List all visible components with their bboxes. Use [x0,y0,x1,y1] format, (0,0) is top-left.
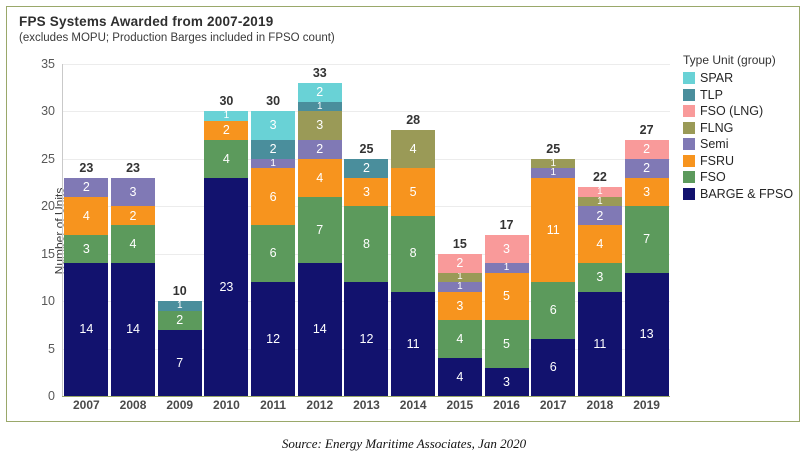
bar-segment[interactable]: 14 [64,263,108,396]
bar-segment[interactable]: 3 [344,178,388,206]
bar-segment[interactable]: 1 [438,273,482,282]
x-axis-tick-label: 2008 [110,398,157,418]
bar-total-label: 25 [360,142,374,156]
x-axis-tick-label: 2015 [437,398,484,418]
bar-segment[interactable]: 14 [298,263,342,396]
bar-segment[interactable]: 3 [64,235,108,263]
source-note: Source: Energy Maritime Associates, Jan … [0,436,808,452]
legend-item[interactable]: Semi [683,136,805,153]
bar-segment[interactable]: 3 [625,178,669,206]
bar-group[interactable]: 66111125 [530,64,577,396]
bar-stack[interactable]: 35513 [485,235,529,396]
bar-total-label: 27 [640,123,654,137]
bar-segment[interactable]: 6 [531,339,575,396]
bar-segment[interactable]: 12 [251,282,295,396]
bar-segment[interactable]: 7 [625,206,669,272]
x-axis-tick-label: 2010 [203,398,250,418]
bar-total-label: 30 [219,94,233,108]
bar-stack[interactable]: 721 [158,301,202,396]
bar-segment[interactable]: 4 [578,225,622,263]
bar-segment[interactable]: 4 [204,140,248,178]
bar-segment[interactable]: 2 [111,206,155,225]
bar-segment[interactable]: 4 [64,197,108,235]
bar-segment[interactable]: 4 [391,130,435,168]
bar-segment[interactable]: 1 [438,282,482,291]
bar-segment[interactable]: 1 [204,111,248,120]
legend-item[interactable]: FSRU [683,153,805,170]
x-axis-tick-label: 2009 [156,398,203,418]
legend-label: Semi [700,137,728,151]
bar-segment[interactable]: 23 [204,178,248,396]
bar-segment[interactable]: 6 [531,282,575,339]
legend-label: FSO [700,170,726,184]
bar-segment[interactable]: 11 [391,292,435,396]
bar-segment[interactable]: 11 [578,292,622,396]
bar-segment[interactable]: 2 [298,140,342,159]
bar-total-label: 33 [313,66,327,80]
y-axis-tick-label: 30 [41,104,55,118]
bar-stack[interactable]: 1266123 [251,111,295,396]
legend-swatch [683,171,695,183]
bar-segment[interactable]: 7 [298,197,342,263]
bar-stack[interactable]: 137322 [625,140,669,396]
bar-stack[interactable]: 14342 [64,178,108,396]
x-axis-tick-label: 2019 [623,398,670,418]
plot-area: Number of Units 05101520253035 143422314… [62,64,670,397]
bar-segment[interactable]: 3 [485,235,529,263]
legend-item[interactable]: BARGE & FPSO [683,186,805,203]
legend-item[interactable]: TLP [683,87,805,104]
bar-segment[interactable]: 4 [438,320,482,358]
y-axis-tick-label: 20 [41,199,55,213]
bar-segment[interactable]: 2 [625,159,669,178]
bar-group[interactable]: 72110 [156,64,203,396]
y-axis-tick-label: 5 [48,342,55,356]
bar-segment[interactable]: 11 [531,178,575,282]
legend-swatch [683,89,695,101]
bar-series-container: 1434223144232372110234213012661233014742… [63,64,670,396]
bar-segment[interactable]: 2 [344,159,388,178]
bar-segment[interactable]: 1 [531,168,575,177]
bar-segment[interactable]: 1 [578,197,622,206]
y-axis-tick-label: 15 [41,247,55,261]
legend-item[interactable]: FSO (LNG) [683,103,805,120]
legend-item[interactable]: SPAR [683,70,805,87]
bar-segment[interactable]: 3 [111,178,155,206]
bar-segment[interactable]: 5 [485,273,529,320]
y-axis-tick-label: 0 [48,389,55,403]
bar-segment[interactable]: 3 [578,263,622,291]
bar-segment[interactable]: 7 [158,330,202,396]
bar-group[interactable]: 113421122 [577,64,624,396]
legend-label: BARGE & FPSO [700,187,793,201]
bar-segment[interactable]: 2 [578,206,622,225]
x-axis-tick-label: 2013 [343,398,390,418]
chart-page: FPS Systems Awarded from 2007-2019 (excl… [0,0,808,465]
bar-stack[interactable]: 661111 [531,159,575,396]
legend-label: SPAR [700,71,733,85]
x-axis-tick-label: 2012 [296,398,343,418]
bar-total-label: 23 [79,161,93,175]
bar-segment[interactable]: 2 [204,121,248,140]
bar-stack[interactable]: 443112 [438,254,482,396]
y-axis-tick-label: 35 [41,57,55,71]
bar-segment[interactable]: 1 [158,301,202,310]
bar-segment[interactable]: 8 [391,216,435,292]
bar-segment[interactable]: 1 [531,159,575,168]
bar-stack[interactable]: 11854 [391,130,435,396]
x-axis-tick-label: 2007 [63,398,110,418]
bar-segment[interactable]: 5 [391,168,435,215]
bar-segment[interactable]: 2 [298,83,342,102]
bar-total-label: 22 [593,170,607,184]
legend-items: SPARTLPFSO (LNG)FLNGSemiFSRUFSOBARGE & F… [683,70,805,202]
bar-group[interactable]: 44311215 [437,64,484,396]
legend-item[interactable]: FLNG [683,120,805,137]
bar-stack[interactable]: 23421 [204,111,248,396]
bar-segment[interactable]: 3 [438,292,482,320]
bar-segment[interactable]: 2 [438,254,482,273]
legend-label: TLP [700,88,723,102]
bar-total-label: 28 [406,113,420,127]
bar-segment[interactable]: 3 [251,111,295,139]
bar-segment[interactable]: 1 [298,102,342,111]
bar-segment[interactable]: 1 [485,263,529,272]
bar-total-label: 30 [266,94,280,108]
legend-swatch [683,122,695,134]
bar-segment[interactable]: 2 [625,140,669,159]
bar-total-label: 23 [126,161,140,175]
legend-swatch [683,188,695,200]
x-axis-tick-label: 2017 [530,398,577,418]
legend-swatch [683,105,695,117]
legend-label: FSO (LNG) [700,104,763,118]
bar-segment[interactable]: 2 [251,140,295,159]
bar-group[interactable]: 1474231233 [296,64,343,396]
bar-segment[interactable]: 3 [485,368,529,396]
bar-group[interactable]: 13732227 [623,64,670,396]
bar-total-label: 15 [453,237,467,251]
legend-label: FLNG [700,121,733,135]
bar-group[interactable]: 2342130 [203,64,250,396]
bar-stack[interactable]: 12832 [344,159,388,396]
legend-swatch [683,72,695,84]
bar-segment[interactable]: 13 [625,273,669,396]
legend-label: FSRU [700,154,734,168]
bar-segment[interactable]: 6 [251,225,295,282]
bar-group[interactable]: 126612330 [250,64,297,396]
chart-title: FPS Systems Awarded from 2007-2019 [19,14,273,29]
bar-total-label: 10 [173,284,187,298]
bar-segment[interactable]: 8 [344,206,388,282]
bar-group[interactable]: 1185428 [390,64,437,396]
bar-stack[interactable]: 14423 [111,178,155,396]
legend: Type Unit (group) SPARTLPFSO (LNG)FLNGSe… [683,53,805,202]
bar-stack[interactable]: 1134211 [578,187,622,396]
x-axis-tick-label: 2014 [390,398,437,418]
x-axis-tick-label: 2018 [577,398,624,418]
bar-segment[interactable]: 14 [111,263,155,396]
bar-group[interactable]: 1442323 [110,64,157,396]
chart-frame: FPS Systems Awarded from 2007-2019 (excl… [6,6,800,422]
x-axis-tick-label: 2016 [483,398,530,418]
y-axis-tick-label: 25 [41,152,55,166]
bar-stack[interactable]: 14742312 [298,83,342,396]
bar-segment[interactable]: 12 [344,282,388,396]
bar-segment[interactable]: 2 [158,311,202,330]
bar-segment[interactable]: 2 [64,178,108,197]
legend-swatch [683,138,695,150]
bar-segment[interactable]: 4 [111,225,155,263]
bar-group[interactable]: 1283225 [343,64,390,396]
legend-swatch [683,155,695,167]
bar-segment[interactable]: 4 [298,159,342,197]
bar-group[interactable]: 1434223 [63,64,110,396]
bar-total-label: 25 [546,142,560,156]
bar-group[interactable]: 3551317 [483,64,530,396]
x-axis-tick-label: 2011 [250,398,297,418]
y-axis-tick-label: 10 [41,294,55,308]
bar-segment[interactable]: 1 [578,187,622,196]
chart-subtitle: (excludes MOPU; Production Barges includ… [19,32,335,44]
bar-segment[interactable]: 1 [251,159,295,168]
bar-segment[interactable]: 5 [485,320,529,367]
legend-title: Type Unit (group) [683,53,805,67]
bar-segment[interactable]: 6 [251,168,295,225]
x-axis-ticks: 2007200820092010201120122013201420152016… [63,398,670,418]
bar-total-label: 17 [500,218,514,232]
bar-segment[interactable]: 3 [298,111,342,139]
bar-segment[interactable]: 4 [438,358,482,396]
legend-item[interactable]: FSO [683,169,805,186]
